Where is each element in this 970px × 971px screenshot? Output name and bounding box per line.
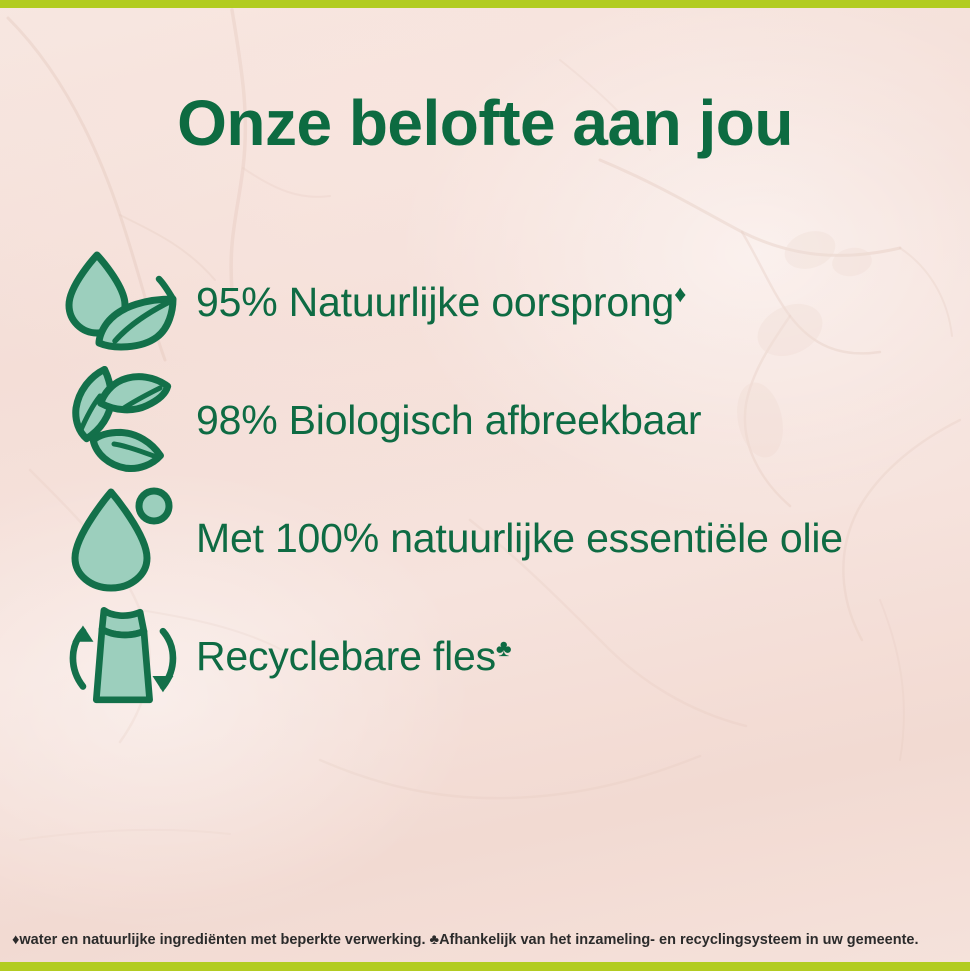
footnote-marker-club: ♣ (496, 635, 512, 662)
claim-label: Met 100% natuurlijke essentiële olie (196, 515, 843, 562)
droplet-leaf-icon (62, 246, 182, 358)
page-title: Onze belofte aan jou (0, 87, 970, 161)
list-item: Met 100% natuurlijke essentiële olie (62, 479, 950, 597)
claim-label: 98% Biologisch afbreekbaar (196, 397, 701, 444)
footnote-marker-diamond: ♦ (674, 281, 686, 308)
list-item: Recyclebare fles♣ (62, 597, 950, 715)
list-item: 95% Natuurlijke oorsprong♦ (62, 243, 950, 361)
claim-label: 95% Natuurlijke oorsprong♦ (196, 279, 686, 326)
three-leaves-recycle-icon (62, 364, 182, 476)
recyclable-bottle-icon (62, 600, 182, 712)
claim-label: Recyclebare fles♣ (196, 633, 512, 680)
droplet-bubble-icon (62, 482, 182, 594)
bottom-lime-rule (0, 962, 970, 971)
top-lime-rule (0, 0, 970, 8)
promise-banner: Onze belofte aan jou 95% Natuurlijke oor… (0, 0, 970, 971)
claims-list: 95% Natuurlijke oorsprong♦ (62, 243, 950, 715)
list-item: 98% Biologisch afbreekbaar (62, 361, 950, 479)
footnote-text: ♦water en natuurlijke ingrediënten met b… (12, 930, 956, 951)
